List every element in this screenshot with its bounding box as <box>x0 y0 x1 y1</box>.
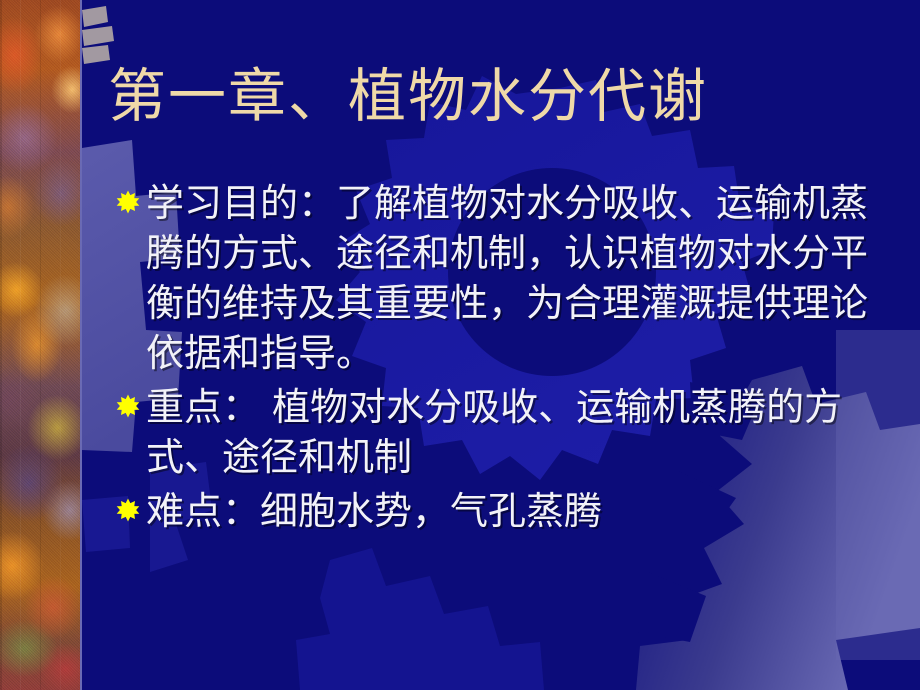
slide-title: 第一章、植物水分代谢 <box>108 66 898 127</box>
gear-bottom-center <box>296 548 544 690</box>
starburst-icon <box>116 394 140 418</box>
bullet-text: 难点：细胞水势，气孔蒸腾 <box>146 486 902 536</box>
bullet-item-2: 重点： 植物对水分吸收、运输机蒸腾的方式、途径和机制 <box>112 382 902 482</box>
bullet-text: 重点： 植物对水分吸收、运输机蒸腾的方式、途径和机制 <box>146 382 902 482</box>
decorative-side-strip <box>0 0 82 690</box>
bullet-item-3: 难点：细胞水势，气孔蒸腾 <box>112 486 902 536</box>
starburst-icon <box>116 498 140 522</box>
presentation-slide: 第一章、植物水分代谢 学习目的：了解植物对水分吸收、运输机蒸腾的方式、途径和机制… <box>0 0 920 690</box>
starburst-icon <box>116 190 140 214</box>
bullet-text: 学习目的：了解植物对水分吸收、运输机蒸腾的方式、途径和机制，认识植物对水分平衡的… <box>146 178 902 378</box>
bullet-item-1: 学习目的：了解植物对水分吸收、运输机蒸腾的方式、途径和机制，认识植物对水分平衡的… <box>112 178 902 378</box>
gear-top-left-spokes <box>82 6 114 64</box>
bullet-list: 学习目的：了解植物对水分吸收、运输机蒸腾的方式、途径和机制，认识植物对水分平衡的… <box>112 178 902 536</box>
